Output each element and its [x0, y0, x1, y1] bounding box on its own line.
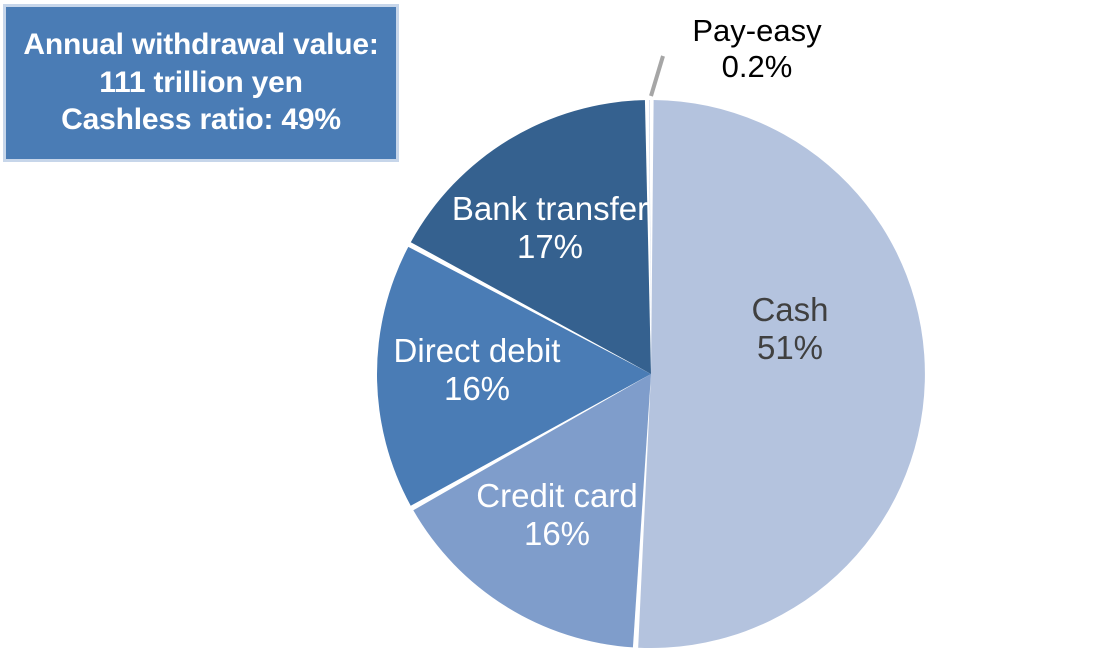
pie-slice-cash — [638, 100, 925, 648]
pay-easy-leader-line — [651, 56, 663, 96]
pie-slice-group — [377, 100, 925, 648]
chart-canvas: Annual withdrawal value: 111 trillion ye… — [0, 0, 1120, 668]
pie-chart — [0, 0, 1120, 668]
